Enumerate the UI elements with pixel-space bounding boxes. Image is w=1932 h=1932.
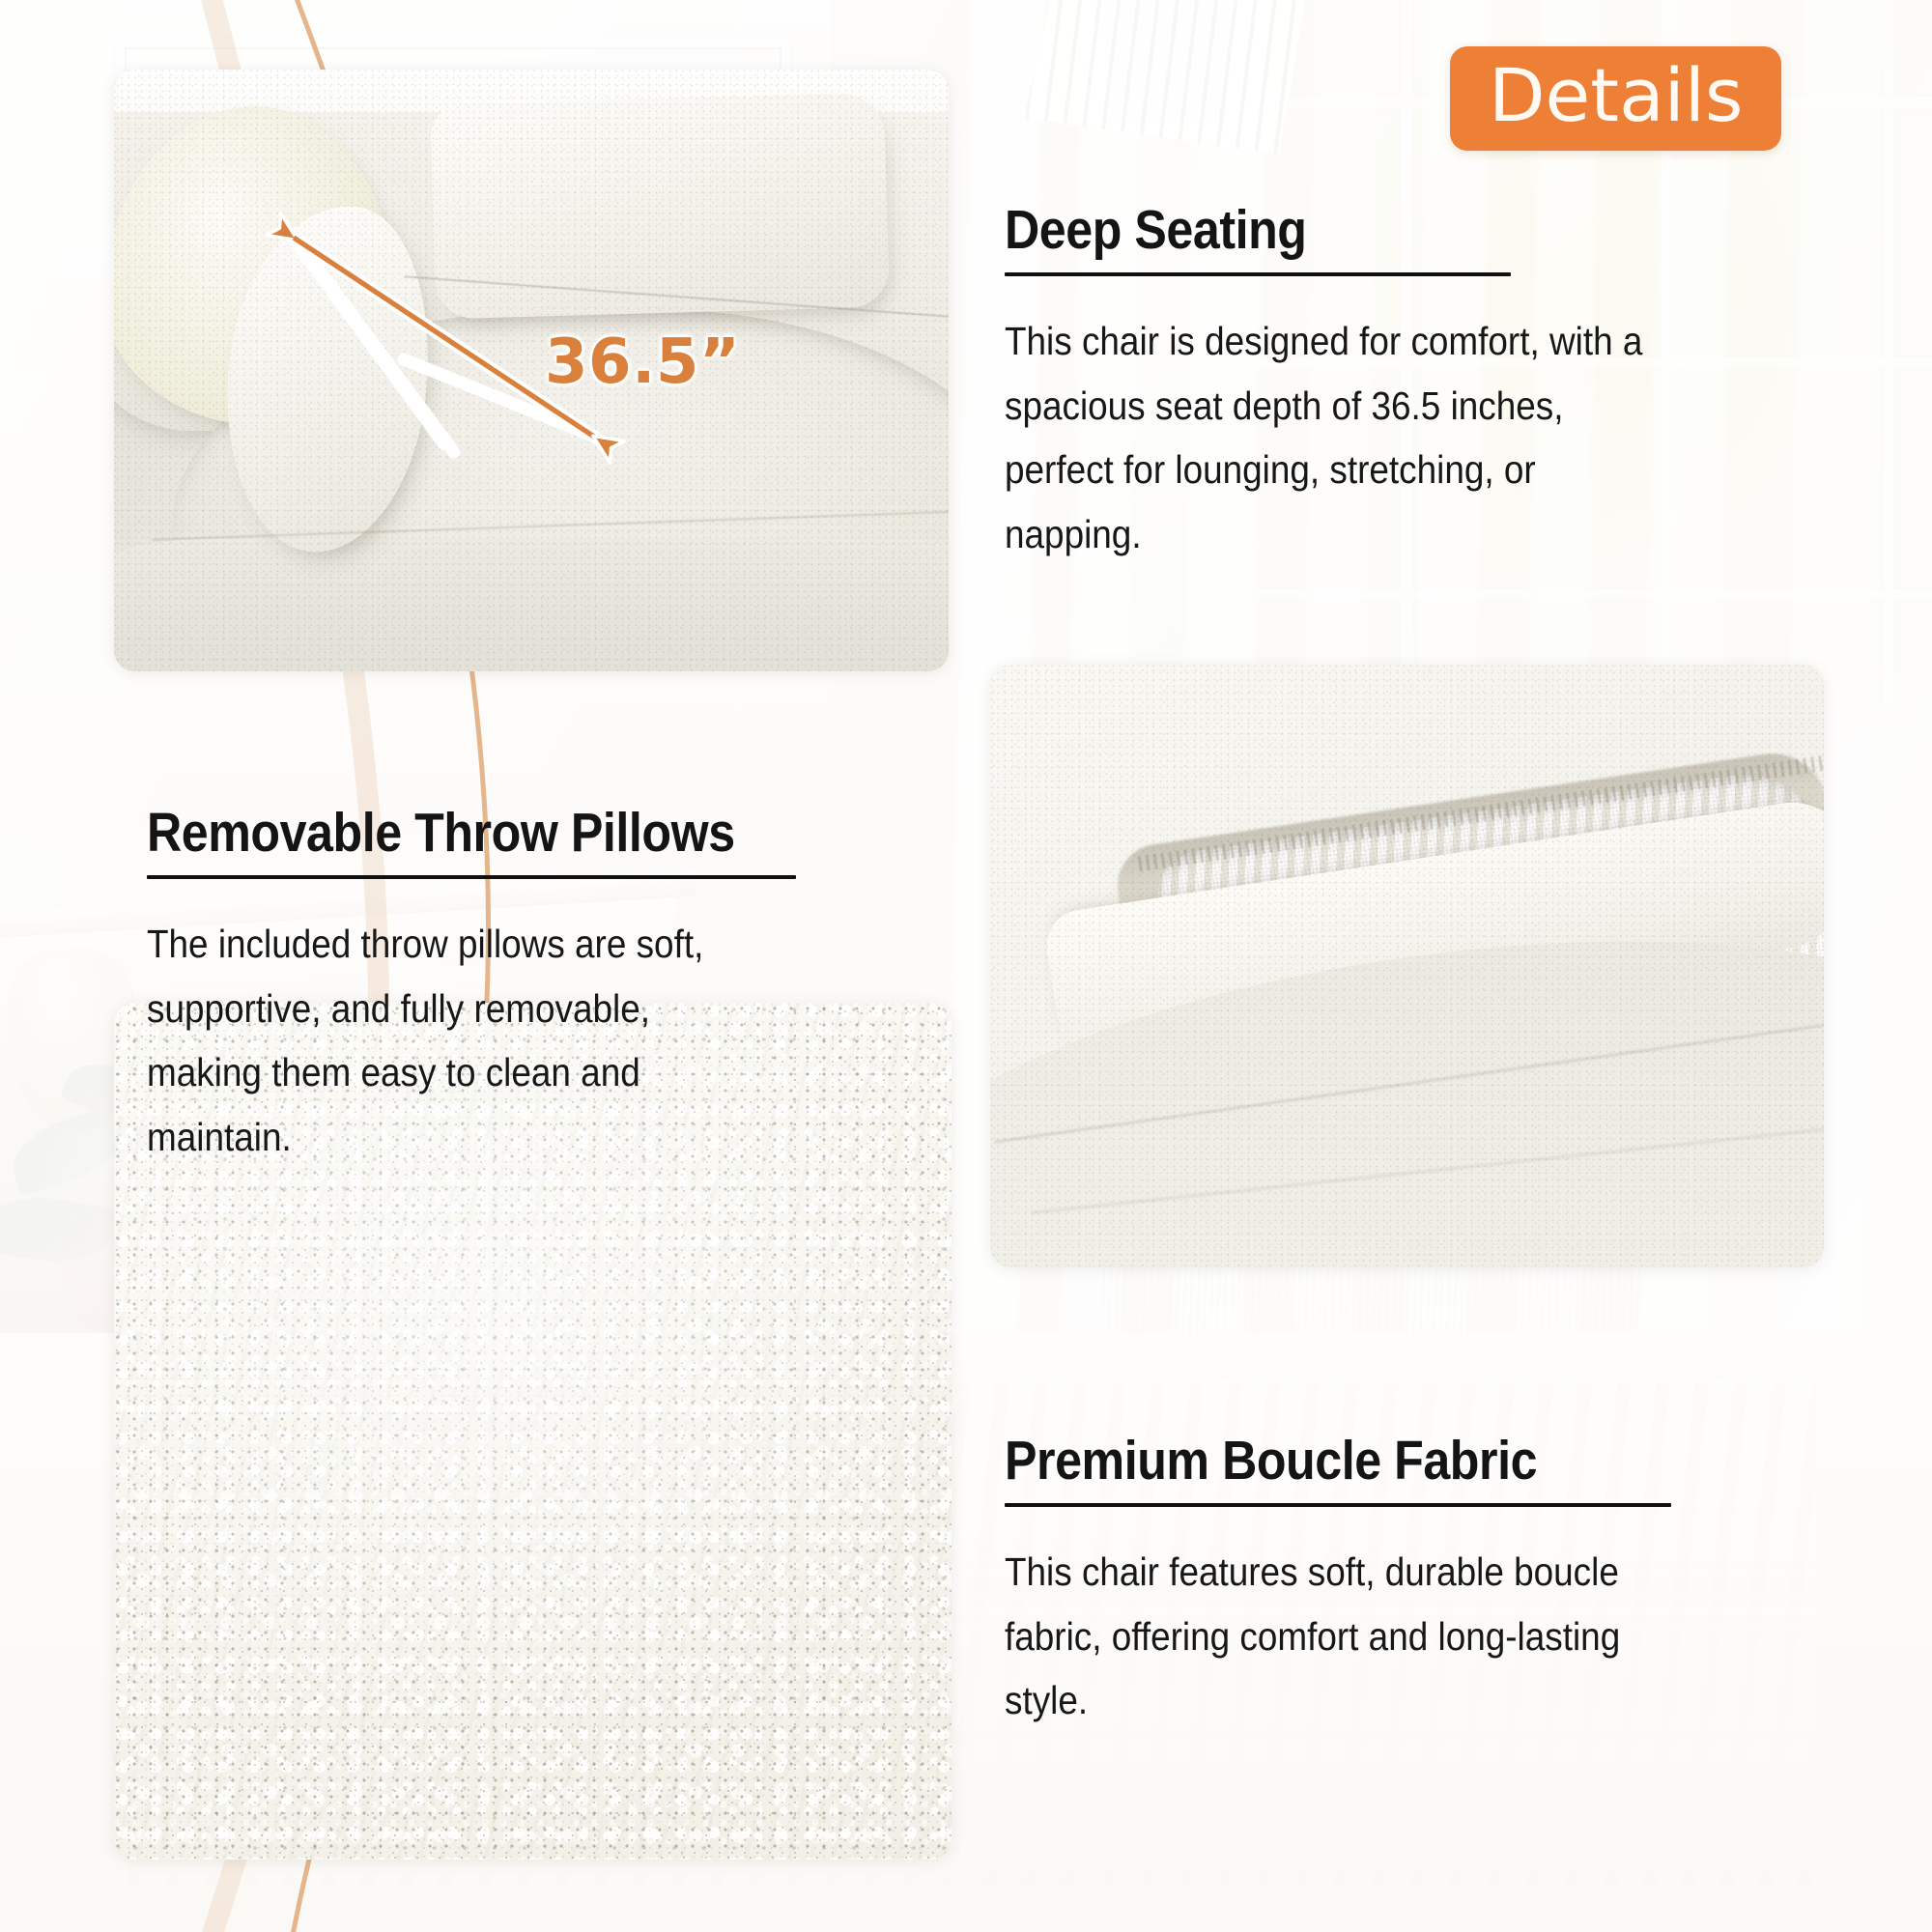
- section-removable-throw-pillows: Removable Throw Pillows The included thr…: [147, 804, 978, 1169]
- section-body: The included throw pillows are soft, sup…: [147, 912, 773, 1169]
- seat-depth-callout: 36.5”: [545, 327, 740, 398]
- heading-rule: [147, 875, 796, 879]
- section-premium-boucle-fabric: Premium Boucle Fabric This chair feature…: [1005, 1432, 1835, 1733]
- dimension-arrow-icon: [114, 70, 949, 671]
- seat-depth-photo: 36.5”: [114, 70, 949, 671]
- section-heading: Deep Seating: [1005, 201, 1736, 259]
- section-deep-seating: Deep Seating This chair is designed for …: [1005, 201, 1835, 566]
- section-heading: Premium Boucle Fabric: [1005, 1432, 1736, 1490]
- zipper-photo: [990, 665, 1824, 1267]
- section-body: This chair is designed for comfort, with…: [1005, 309, 1665, 566]
- details-badge: Details: [1450, 46, 1781, 151]
- section-body: This chair features soft, durable boucle…: [1005, 1540, 1631, 1732]
- background-lampshade: [1005, 0, 1323, 155]
- section-heading: Removable Throw Pillows: [147, 804, 878, 862]
- heading-rule: [1005, 1503, 1671, 1507]
- heading-rule: [1005, 272, 1511, 276]
- detail-page: 36.5” Details Deep Seating: [0, 0, 1932, 1932]
